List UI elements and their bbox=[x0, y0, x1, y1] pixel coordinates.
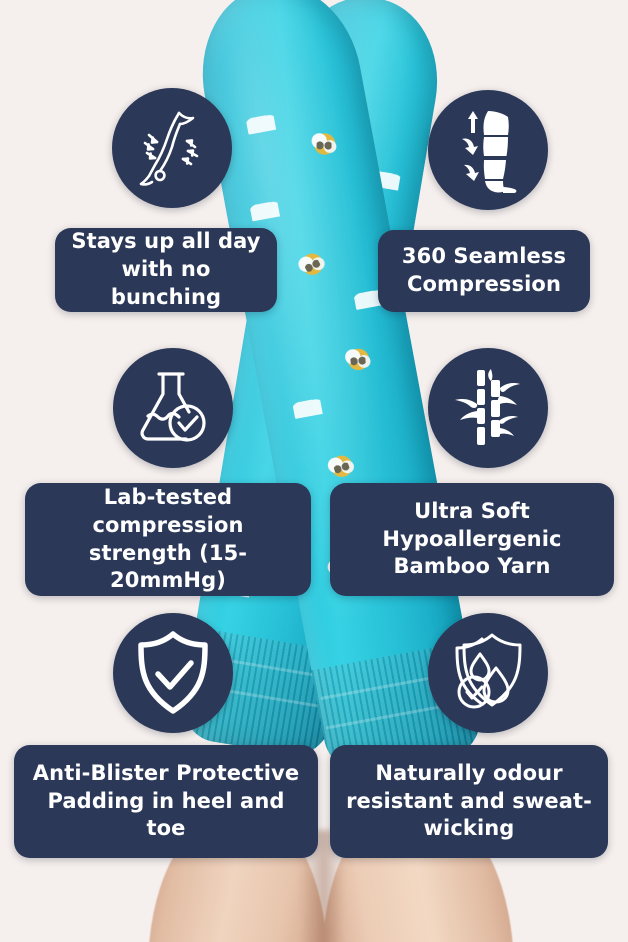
shield-droplet-check-icon bbox=[428, 613, 548, 733]
feature-text: Stays up all day with no bunching bbox=[69, 228, 263, 311]
feature-text: Naturally odour resistant and sweat-wick… bbox=[344, 760, 594, 843]
flask-check-icon bbox=[113, 348, 233, 468]
feature-text: Lab-tested compression strength (15-20mm… bbox=[39, 484, 297, 595]
feature-text: Anti-Blister Protective Padding in heel … bbox=[28, 760, 304, 843]
feature-label-seamless-compression: 360 Seamless Compression bbox=[378, 230, 590, 312]
leg-compression-arrows-icon bbox=[112, 88, 232, 208]
feature-text: 360 Seamless Compression bbox=[392, 243, 576, 298]
feature-overlay: Stays up all day with no bunching 360 Se… bbox=[0, 0, 628, 942]
feature-label-bamboo-yarn: Ultra Soft Hypoallergenic Bamboo Yarn bbox=[330, 483, 614, 596]
feature-label-lab-tested: Lab-tested compression strength (15-20mm… bbox=[25, 483, 311, 596]
sock-upward-arrows-icon bbox=[428, 90, 548, 210]
feature-text: Ultra Soft Hypoallergenic Bamboo Yarn bbox=[344, 498, 600, 581]
feature-label-odour-resistant: Naturally odour resistant and sweat-wick… bbox=[330, 745, 608, 858]
shield-check-icon bbox=[113, 613, 233, 733]
bamboo-icon bbox=[428, 348, 548, 468]
feature-label-stays-up: Stays up all day with no bunching bbox=[55, 228, 277, 312]
feature-label-anti-blister: Anti-Blister Protective Padding in heel … bbox=[14, 745, 318, 858]
infographic-canvas: Stays up all day with no bunching 360 Se… bbox=[0, 0, 628, 942]
